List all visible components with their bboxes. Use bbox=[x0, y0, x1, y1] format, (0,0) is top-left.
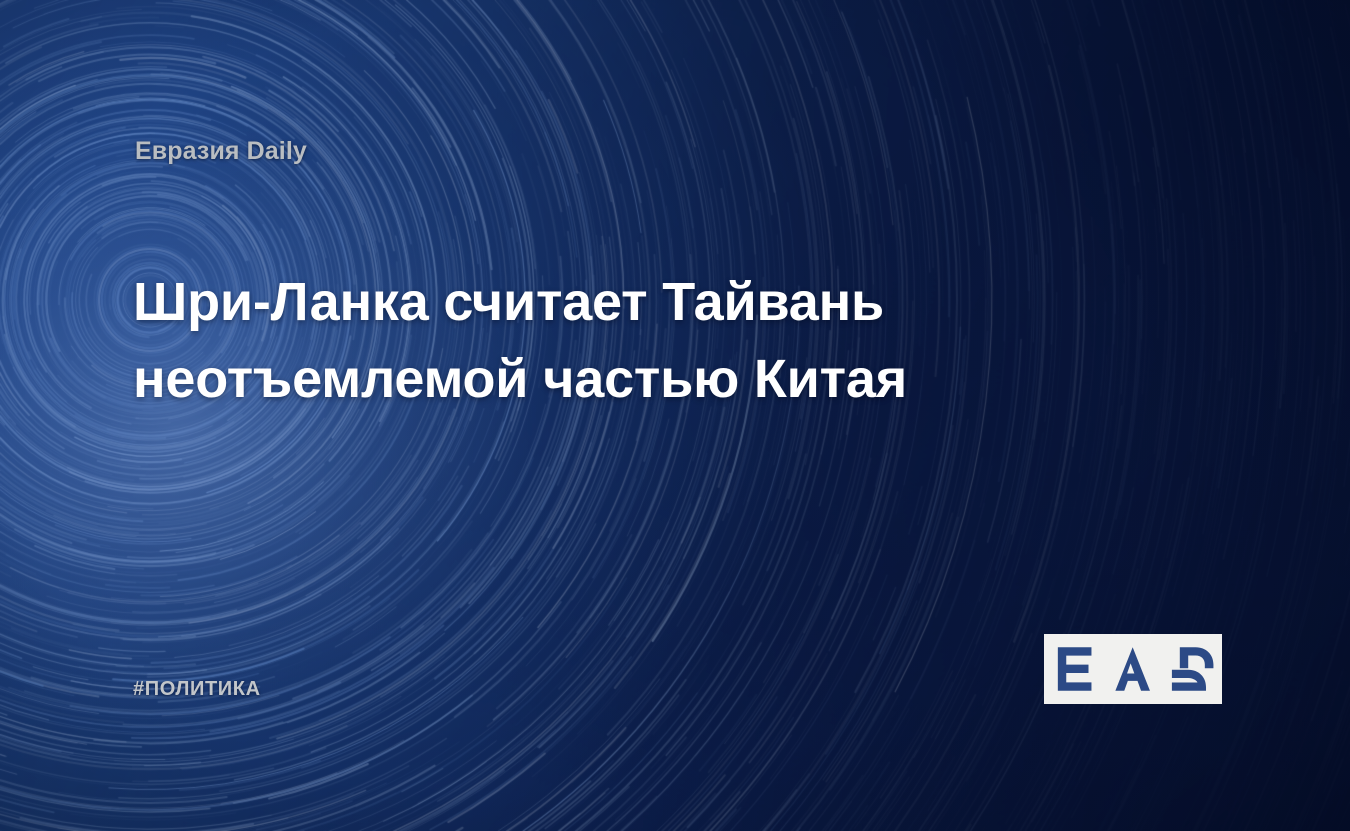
headline-line-1: Шри-Ланка считает Тайвань bbox=[133, 264, 1013, 341]
headline-line-2: неотъемлемой частью Китая bbox=[133, 341, 1013, 418]
logo-tile-e bbox=[1044, 634, 1103, 704]
logo-tile-d bbox=[1163, 634, 1222, 704]
news-share-card: Евразия Daily Шри-Ланка считает Тайвань … bbox=[0, 0, 1350, 831]
page-title: Шри-Ланка считает Тайвань неотъемлемой ч… bbox=[133, 264, 1013, 418]
logo-tile-a bbox=[1103, 634, 1162, 704]
logo-letter-e-icon bbox=[1044, 634, 1103, 704]
ead-logo[interactable] bbox=[1044, 634, 1222, 704]
logo-letter-d-split-icon bbox=[1163, 634, 1222, 704]
category-tag[interactable]: #ПОЛИТИКА bbox=[133, 678, 261, 701]
logo-letter-a-icon bbox=[1103, 634, 1162, 704]
site-name: Евразия Daily bbox=[135, 137, 307, 166]
